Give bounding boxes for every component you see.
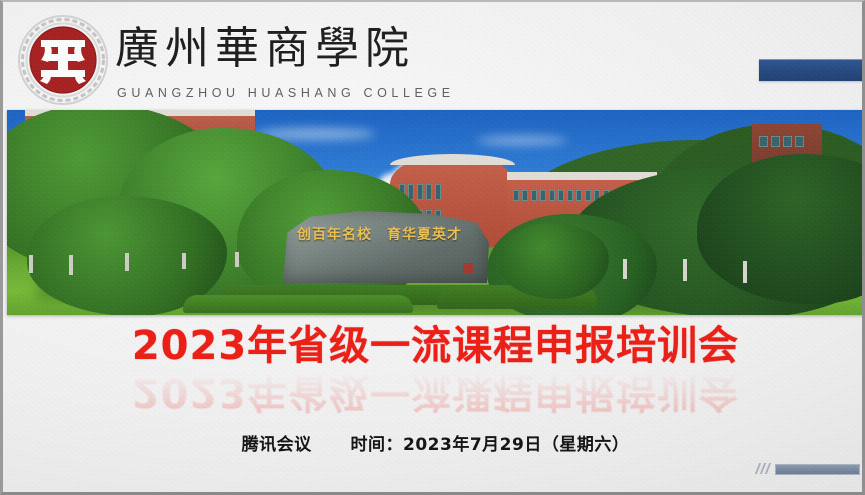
window: [549, 190, 555, 201]
window: [759, 136, 768, 147]
tree-trunk: [69, 255, 73, 275]
hedge: [183, 295, 413, 313]
window: [426, 184, 432, 200]
footer-accent-bar: [775, 464, 860, 475]
window: [771, 136, 780, 147]
meeting-datetime: 时间：2023年7月29日（星期六）: [351, 435, 630, 455]
window: [540, 190, 546, 201]
meeting-platform: 腾讯会议: [242, 435, 312, 455]
window: [417, 184, 423, 200]
monument-inscription: 创百年名校 育华夏英才: [297, 224, 477, 244]
tree-trunk: [623, 259, 627, 279]
subtitle: 腾讯会议 时间：2023年7月29日（星期六）: [3, 430, 865, 455]
triple-slash-decor-icon: [757, 463, 773, 474]
tree-trunk: [182, 253, 186, 269]
university-seal-emblem-icon: [17, 14, 109, 106]
presentation-slide: 廣州華商學院 GUANGZHOU HUASHANG COLLEGE: [0, 0, 865, 495]
tree-trunk: [29, 255, 33, 273]
campus-monument-stone: 创百年名校 育华夏英才: [281, 211, 489, 283]
institution-name-chinese: 廣州華商學院: [115, 21, 415, 77]
window: [531, 190, 537, 201]
window: [783, 136, 792, 147]
tree-trunk: [235, 252, 239, 267]
monument-seal-icon: [463, 263, 473, 273]
shrub: [499, 223, 609, 299]
institution-name-english: GUANGZHOU HUASHANG COLLEGE: [117, 86, 455, 100]
tree-trunk: [683, 259, 687, 281]
window: [795, 136, 804, 147]
window: [558, 190, 564, 201]
window: [522, 190, 528, 201]
page-title: 2023年省级一流课程申报培训会: [3, 320, 865, 372]
window-row: [759, 136, 804, 147]
window: [435, 184, 441, 200]
window: [567, 190, 573, 201]
window: [585, 190, 591, 201]
building-roofline: [507, 172, 657, 180]
window: [576, 190, 582, 201]
slide-header: 廣州華商學院 GUANGZHOU HUASHANG COLLEGE: [3, 2, 865, 110]
cloud: [477, 136, 567, 145]
campus-photo: 创百年名校 育华夏英才: [7, 110, 864, 315]
tree-trunk: [743, 261, 747, 283]
window: [513, 190, 519, 201]
tree-trunk: [125, 253, 129, 271]
page-title-reflection: 2023年省级一流课程申报培训会: [3, 366, 865, 418]
subtitle-block: 腾讯会议 时间：2023年7月29日（星期六）: [3, 430, 865, 455]
header-accent-bar: [759, 59, 865, 81]
title-block: 2023年省级一流课程申报培训会 2023年省级一流课程申报培训会: [3, 320, 865, 418]
